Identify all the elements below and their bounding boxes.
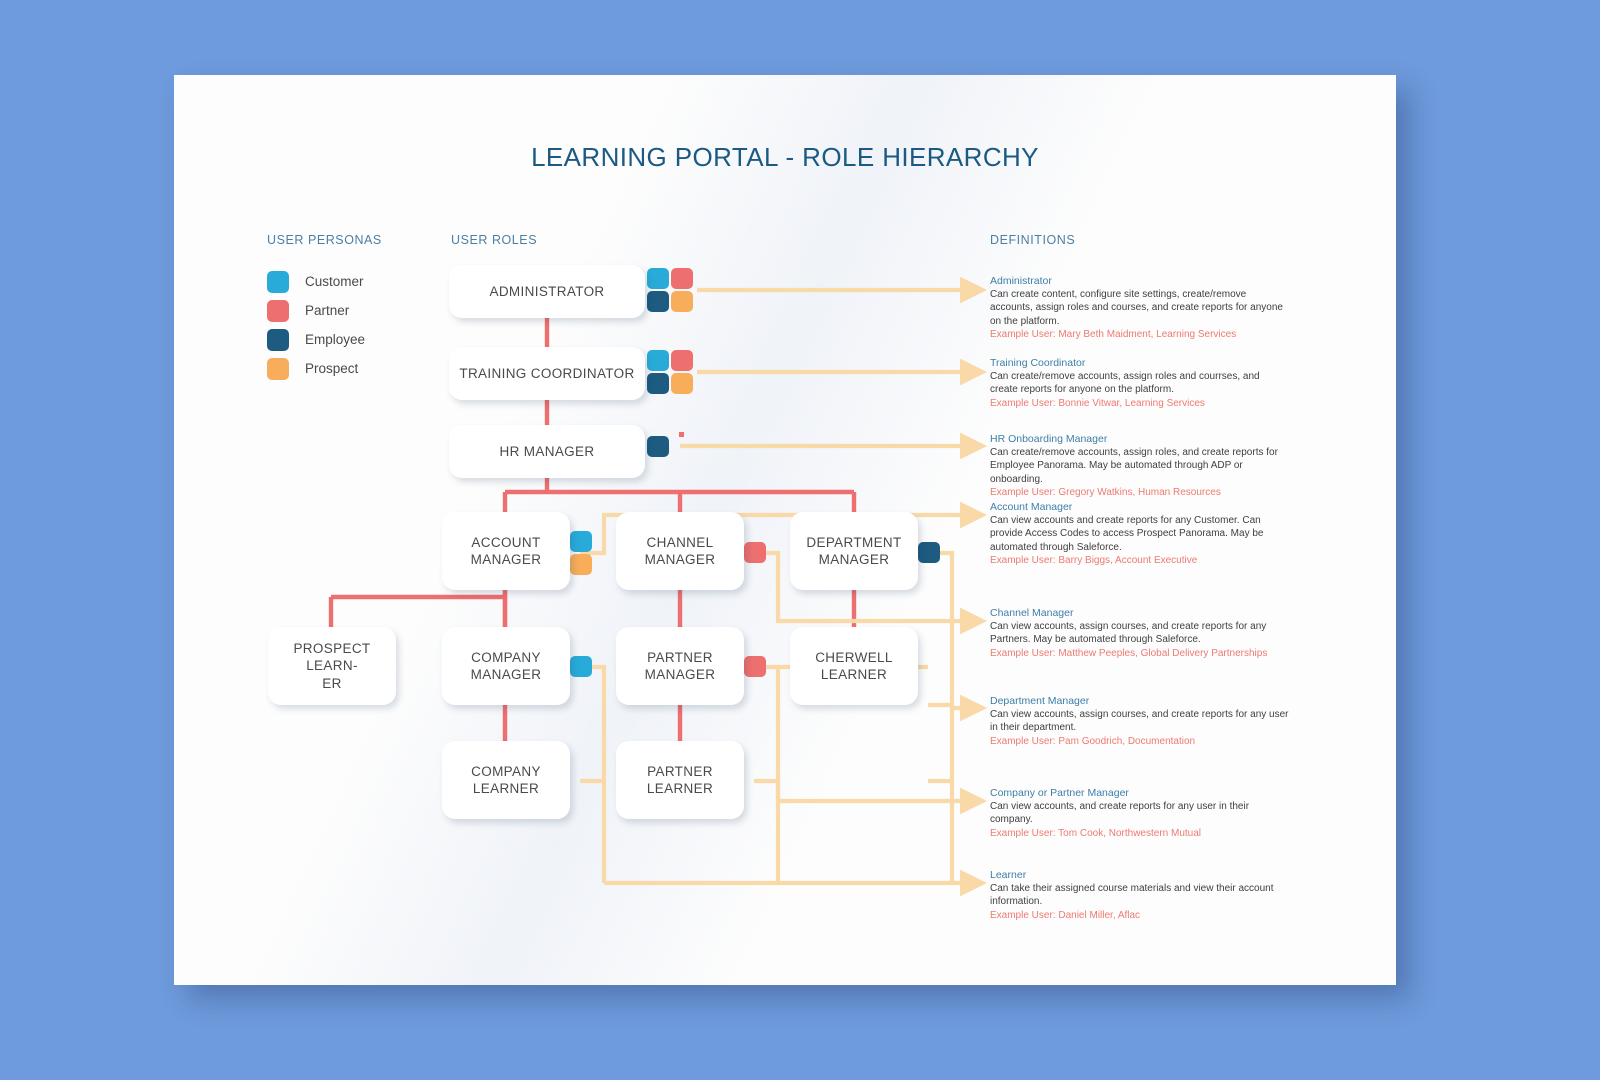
definition-title: Administrator	[990, 275, 1290, 287]
role-node-label-line: PROSPECT LEARN-	[268, 640, 396, 675]
role-node-hr-manager[interactable]: HR MANAGER	[449, 425, 645, 478]
legend-label-partner: Partner	[305, 303, 349, 318]
role-node-label-line: TRAINING COORDINATOR	[451, 365, 642, 382]
role-node-label-line: MANAGER	[463, 551, 550, 568]
role-node-partner-learner[interactable]: PARTNERLEARNER	[616, 741, 744, 819]
role-node-label-line: ADMINISTRATOR	[481, 283, 612, 300]
role-node-label-line: CHANNEL	[637, 534, 724, 551]
persona-tabs-department-manager	[918, 542, 940, 563]
persona-tab-customer	[647, 268, 669, 289]
stray-red-dot-artifact	[679, 432, 684, 437]
definition-hr-onboarding-manager: HR Onboarding ManagerCan create/remove a…	[990, 433, 1290, 499]
persona-tab-partner	[744, 542, 766, 563]
persona-tab-prospect	[570, 554, 592, 575]
legend-swatch-partner	[267, 300, 289, 322]
role-node-label: CHERWELLLEARNER	[807, 649, 901, 684]
legend-swatch-customer	[267, 271, 289, 293]
persona-tab-employee	[647, 291, 669, 312]
definition-example-user: Example User: Mary Beth Maidment, Learni…	[990, 328, 1290, 341]
role-node-channel-manager[interactable]: CHANNELMANAGER	[616, 512, 744, 590]
definition-body: Can take their assigned course materials…	[990, 882, 1290, 909]
persona-tab-customer	[570, 656, 592, 677]
role-node-label-line: LEARNER	[463, 780, 549, 797]
role-node-label-line: MANAGER	[637, 551, 724, 568]
column-header-definitions: DEFINITIONS	[990, 233, 1075, 247]
legend-swatch-prospect	[267, 358, 289, 380]
role-node-prospect-learner[interactable]: PROSPECT LEARN-ER	[268, 627, 396, 705]
role-node-account-manager[interactable]: ACCOUNTMANAGER	[442, 512, 570, 590]
definition-title: Training Coordinator	[990, 357, 1290, 369]
definition-account-manager: Account ManagerCan view accounts and cre…	[990, 501, 1290, 567]
column-header-user-roles: USER ROLES	[451, 233, 537, 247]
definition-channel-manager: Channel ManagerCan view accounts, assign…	[990, 607, 1290, 660]
definition-example-user: Example User: Pam Goodrich, Documentatio…	[990, 735, 1290, 748]
definition-body: Can create content, configure site setti…	[990, 288, 1290, 328]
role-node-label-line: ER	[268, 675, 396, 692]
persona-tabs-partner-manager	[744, 656, 766, 677]
role-node-training-coordinator[interactable]: TRAINING COORDINATOR	[449, 347, 645, 400]
definition-body: Can view accounts, assign courses, and c…	[990, 620, 1290, 647]
role-node-label-line: LEARNER	[807, 666, 901, 683]
definition-company-or-partner-manager: Company or Partner ManagerCan view accou…	[990, 787, 1290, 840]
column-header-user-personas: USER PERSONAS	[267, 233, 382, 247]
persona-tab-partner	[671, 268, 693, 289]
role-node-label: DEPARTMENTMANAGER	[798, 534, 909, 569]
persona-tab-employee	[647, 436, 669, 457]
role-node-label: PARTNERLEARNER	[639, 763, 721, 798]
persona-tabs-channel-manager	[744, 542, 766, 563]
role-node-label-line: PARTNER	[639, 763, 721, 780]
role-node-label-line: DEPARTMENT	[798, 534, 909, 551]
definition-administrator: AdministratorCan create content, configu…	[990, 275, 1290, 341]
definition-example-user: Example User: Gregory Watkins, Human Res…	[990, 486, 1290, 499]
role-node-label: COMPANYMANAGER	[463, 649, 550, 684]
persona-tab-prospect	[671, 373, 693, 394]
definition-title: HR Onboarding Manager	[990, 433, 1290, 445]
role-node-label: TRAINING COORDINATOR	[451, 365, 642, 382]
persona-legend: CustomerPartnerEmployeeProspect	[267, 267, 365, 383]
definition-body: Can create/remove accounts, assign roles…	[990, 370, 1290, 397]
diagram-card: LEARNING PORTAL - ROLE HIERARCHY USER PE…	[174, 75, 1396, 985]
legend-item-employee: Employee	[267, 325, 365, 354]
legend-label-prospect: Prospect	[305, 361, 358, 376]
legend-label-employee: Employee	[305, 332, 365, 347]
legend-item-prospect: Prospect	[267, 354, 365, 383]
role-node-label: CHANNELMANAGER	[637, 534, 724, 569]
legend-item-customer: Customer	[267, 267, 365, 296]
role-node-label: ACCOUNTMANAGER	[463, 534, 550, 569]
persona-tab-customer	[570, 531, 592, 552]
definition-training-coordinator: Training CoordinatorCan create/remove ac…	[990, 357, 1290, 410]
persona-tabs-hr-manager	[647, 436, 669, 457]
persona-tab-customer	[647, 350, 669, 371]
definition-body: Can view accounts, and create reports fo…	[990, 800, 1290, 827]
definition-learner: LearnerCan take their assigned course ma…	[990, 869, 1290, 922]
persona-tabs-account-manager	[570, 531, 592, 575]
page-title: LEARNING PORTAL - ROLE HIERARCHY	[174, 142, 1396, 173]
definition-title: Company or Partner Manager	[990, 787, 1290, 799]
persona-tab-prospect	[671, 291, 693, 312]
role-node-label-line: MANAGER	[463, 666, 550, 683]
legend-label-customer: Customer	[305, 274, 364, 289]
role-node-cherwell-learner[interactable]: CHERWELLLEARNER	[790, 627, 918, 705]
legend-swatch-employee	[267, 329, 289, 351]
role-node-administrator[interactable]: ADMINISTRATOR	[449, 265, 645, 318]
definition-example-user: Example User: Tom Cook, Northwestern Mut…	[990, 827, 1290, 840]
persona-tab-employee	[918, 542, 940, 563]
role-node-label: COMPANYLEARNER	[463, 763, 549, 798]
role-node-department-manager[interactable]: DEPARTMENTMANAGER	[790, 512, 918, 590]
role-node-label-line: LEARNER	[639, 780, 721, 797]
role-node-label-line: MANAGER	[637, 666, 724, 683]
definition-title: Account Manager	[990, 501, 1290, 513]
role-node-label: PARTNERMANAGER	[637, 649, 724, 684]
role-node-label: HR MANAGER	[491, 443, 602, 460]
persona-tabs-training-coordinator	[647, 350, 693, 394]
definition-body: Can view accounts, assign courses, and c…	[990, 708, 1290, 735]
role-node-label-line: MANAGER	[798, 551, 909, 568]
page-root: LEARNING PORTAL - ROLE HIERARCHY USER PE…	[0, 0, 1600, 1080]
definition-title: Learner	[990, 869, 1290, 881]
definition-example-user: Example User: Daniel Miller, Aflac	[990, 909, 1290, 922]
persona-tab-employee	[647, 373, 669, 394]
definition-body: Can create/remove accounts, assign roles…	[990, 446, 1290, 486]
legend-item-partner: Partner	[267, 296, 365, 325]
role-node-label: ADMINISTRATOR	[481, 283, 612, 300]
role-node-label-line: CHERWELL	[807, 649, 901, 666]
definition-example-user: Example User: Matthew Peeples, Global De…	[990, 647, 1290, 660]
persona-tab-partner	[671, 350, 693, 371]
definition-title: Channel Manager	[990, 607, 1290, 619]
role-node-label: PROSPECT LEARN-ER	[268, 640, 396, 692]
persona-tabs-administrator	[647, 268, 693, 312]
role-node-label-line: HR MANAGER	[491, 443, 602, 460]
role-node-label-line: COMPANY	[463, 763, 549, 780]
role-node-company-learner[interactable]: COMPANYLEARNER	[442, 741, 570, 819]
definition-department-manager: Department ManagerCan view accounts, ass…	[990, 695, 1290, 748]
definition-example-user: Example User: Bonnie Vitwar, Learning Se…	[990, 397, 1290, 410]
persona-tabs-company-manager	[570, 656, 592, 677]
role-node-label-line: COMPANY	[463, 649, 550, 666]
role-node-label-line: PARTNER	[637, 649, 724, 666]
definition-example-user: Example User: Barry Biggs, Account Execu…	[990, 554, 1290, 567]
role-node-company-manager[interactable]: COMPANYMANAGER	[442, 627, 570, 705]
definition-body: Can view accounts and create reports for…	[990, 514, 1290, 554]
definition-title: Department Manager	[990, 695, 1290, 707]
role-node-label-line: ACCOUNT	[463, 534, 550, 551]
persona-tab-partner	[744, 656, 766, 677]
role-node-partner-manager[interactable]: PARTNERMANAGER	[616, 627, 744, 705]
